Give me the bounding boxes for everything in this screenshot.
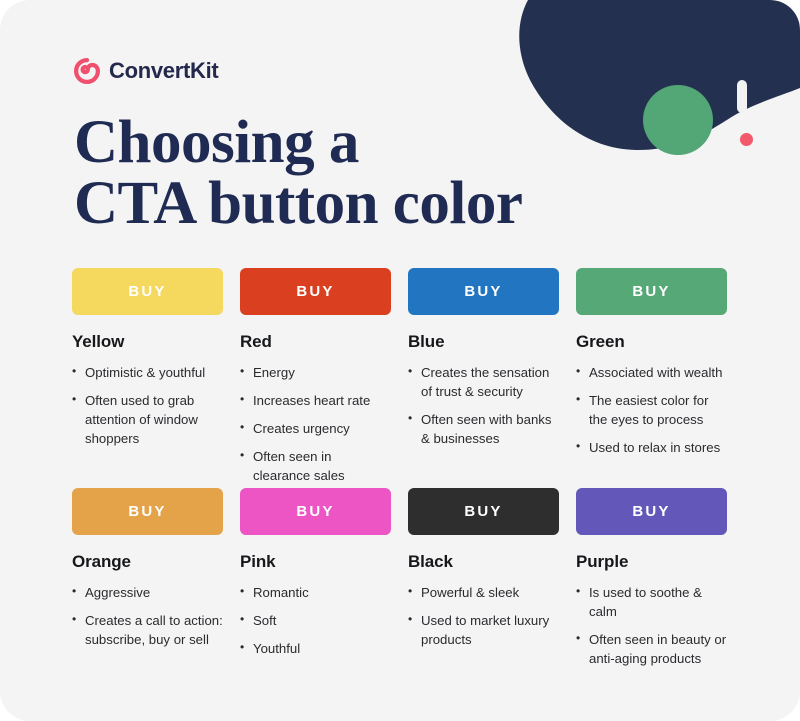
color-grid-row-2: BUY Orange Aggressive Creates a call to … [72,488,728,677]
color-card-green: BUY Green Associated with wealth The eas… [576,268,727,494]
list-item: Used to relax in stores [576,438,727,457]
list-item: Romantic [240,583,391,602]
infographic-card: ConvertKit Choosing a CTA button color B… [0,0,800,721]
trait-list-red: Energy Increases heart rate Creates urge… [240,363,391,485]
color-card-purple: BUY Purple Is used to soothe & calm Ofte… [576,488,727,677]
color-grid-row-1: BUY Yellow Optimistic & youthful Often u… [72,268,728,494]
list-item: Often seen in beauty or anti-aging produ… [576,630,727,668]
red-dot-shape [740,133,753,146]
list-item: The easiest color for the eyes to proces… [576,391,727,429]
list-item: Increases heart rate [240,391,391,410]
header: ConvertKit Choosing a CTA button color [74,56,522,234]
buy-button-purple[interactable]: BUY [576,488,727,535]
page-title: Choosing a CTA button color [74,112,522,234]
list-item: Optimistic & youthful [72,363,223,382]
list-item: Creates the sensation of trust & securit… [408,363,559,401]
color-card-yellow: BUY Yellow Optimistic & youthful Often u… [72,268,223,494]
trait-list-orange: Aggressive Creates a call to action: sub… [72,583,223,649]
list-item: Aggressive [72,583,223,602]
list-item: Youthful [240,639,391,658]
trait-list-green: Associated with wealth The easiest color… [576,363,727,457]
color-card-blue: BUY Blue Creates the sensation of trust … [408,268,559,494]
buy-button-green[interactable]: BUY [576,268,727,315]
color-name-green: Green [576,332,727,352]
list-item: Is used to soothe & calm [576,583,727,621]
list-item: Creates urgency [240,419,391,438]
list-item: Powerful & sleek [408,583,559,602]
convertkit-circle-mark-icon [74,58,100,84]
buy-button-orange[interactable]: BUY [72,488,223,535]
buy-button-black[interactable]: BUY [408,488,559,535]
color-card-red: BUY Red Energy Increases heart rate Crea… [240,268,391,494]
color-card-pink: BUY Pink Romantic Soft Youthful [240,488,391,677]
color-name-black: Black [408,552,559,572]
buy-button-red[interactable]: BUY [240,268,391,315]
list-item: Often seen with banks & businesses [408,410,559,448]
trait-list-purple: Is used to soothe & calm Often seen in b… [576,583,727,668]
buy-button-yellow[interactable]: BUY [72,268,223,315]
color-name-pink: Pink [240,552,391,572]
white-bar-shape [737,80,747,113]
list-item: Used to market luxury products [408,611,559,649]
brand-logo: ConvertKit [74,56,522,86]
list-item: Often seen in clearance sales [240,447,391,485]
color-name-blue: Blue [408,332,559,352]
list-item: Soft [240,611,391,630]
color-card-orange: BUY Orange Aggressive Creates a call to … [72,488,223,677]
buy-button-blue[interactable]: BUY [408,268,559,315]
list-item: Energy [240,363,391,382]
list-item: Often used to grab attention of window s… [72,391,223,448]
color-card-black: BUY Black Powerful & sleek Used to marke… [408,488,559,677]
brand-name: ConvertKit [109,60,218,82]
trait-list-pink: Romantic Soft Youthful [240,583,391,658]
list-item: Creates a call to action: subscribe, buy… [72,611,223,649]
navy-blob-shape [480,0,800,190]
list-item: Associated with wealth [576,363,727,382]
trait-list-blue: Creates the sensation of trust & securit… [408,363,559,448]
green-circle-shape [643,85,713,155]
color-name-red: Red [240,332,391,352]
buy-button-pink[interactable]: BUY [240,488,391,535]
trait-list-black: Powerful & sleek Used to market luxury p… [408,583,559,649]
color-name-purple: Purple [576,552,727,572]
color-name-yellow: Yellow [72,332,223,352]
color-name-orange: Orange [72,552,223,572]
trait-list-yellow: Optimistic & youthful Often used to grab… [72,363,223,448]
